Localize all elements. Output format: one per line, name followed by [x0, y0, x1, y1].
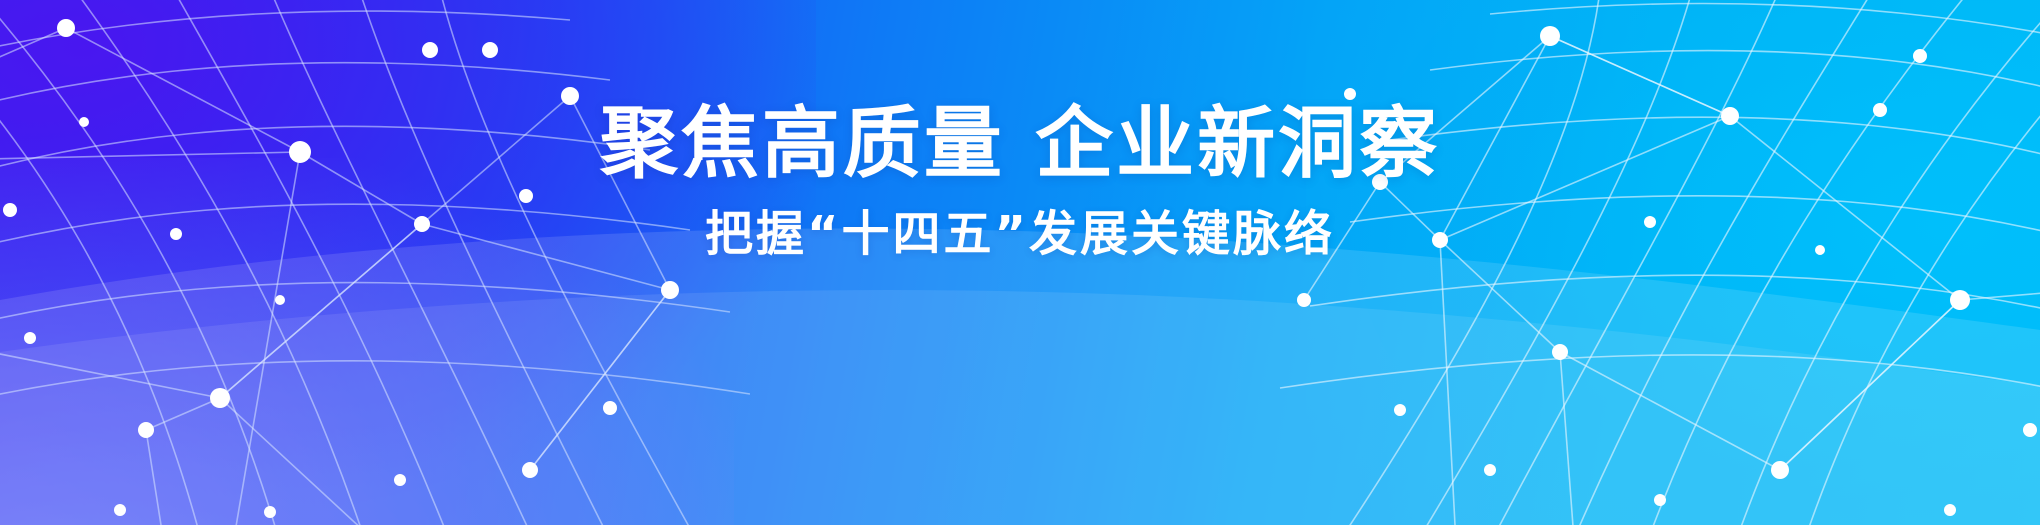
- globe-network-mesh-right-icon: [1260, 0, 2040, 525]
- banner-subheadline: 把握“十四五”发展关键脉络: [0, 208, 2040, 261]
- banner-headline: 聚焦高质量 企业新洞察: [0, 104, 2040, 186]
- promo-banner: 聚焦高质量 企业新洞察 把握“十四五”发展关键脉络: [0, 0, 2040, 525]
- banner-text-block: 聚焦高质量 企业新洞察 把握“十四五”发展关键脉络: [0, 104, 2040, 261]
- globe-network-mesh-left-icon: [0, 0, 750, 525]
